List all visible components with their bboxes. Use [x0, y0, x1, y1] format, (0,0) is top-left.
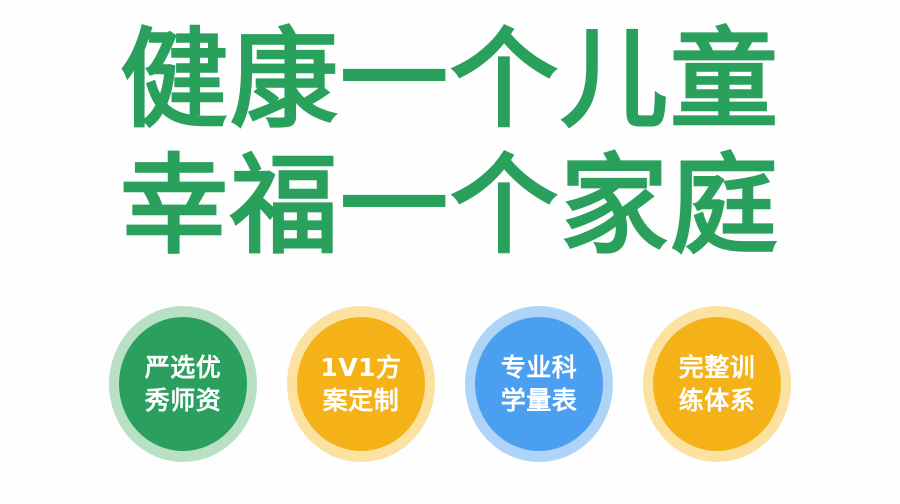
feature-badge-label: 严选优秀师资: [133, 351, 233, 417]
headline-line-2: 幸福一个家庭: [0, 144, 900, 270]
feature-badge-1v1-plan[interactable]: 1V1方案定制: [287, 306, 435, 462]
feature-badge-teachers[interactable]: 严选优秀师资: [109, 306, 257, 462]
feature-badge-label: 完整训练体系: [667, 351, 767, 417]
feature-badge-training-system[interactable]: 完整训练体系: [643, 306, 791, 462]
promo-poster: 健康一个儿童 幸福一个家庭 严选优秀师资 1V1方案定制 专业科学量表 完整训练…: [0, 0, 900, 504]
feature-badge-label: 1V1方案定制: [311, 351, 411, 417]
headline-block: 健康一个儿童 幸福一个家庭: [0, 18, 900, 270]
feature-badge-scientific-scale[interactable]: 专业科学量表: [465, 306, 613, 462]
feature-badge-label: 专业科学量表: [489, 351, 589, 417]
headline-line-1: 健康一个儿童: [0, 18, 900, 144]
feature-badge-row: 严选优秀师资 1V1方案定制 专业科学量表 完整训练体系: [0, 306, 900, 474]
